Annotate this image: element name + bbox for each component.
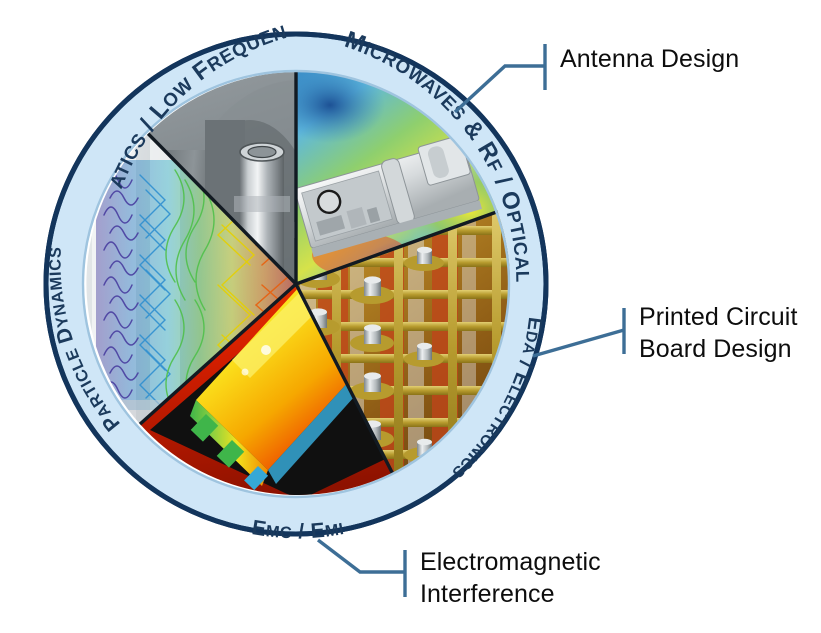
callout-label-antenna-design: Antenna Design xyxy=(560,44,739,76)
callout-label-electromagnetic-interference: Electromagnetic Interference xyxy=(420,547,601,610)
callout-leader-antenna-design xyxy=(455,44,545,112)
callout-leader-printed-circuit-board-design xyxy=(533,308,624,356)
callout-leader-electromagnetic-interference xyxy=(318,540,405,597)
callout-label-printed-circuit-board-design: Printed Circuit Board Design xyxy=(639,302,798,365)
diagram-stage: STATICS / LOW FREQUENCY MICROWAVES & RF … xyxy=(0,0,821,633)
